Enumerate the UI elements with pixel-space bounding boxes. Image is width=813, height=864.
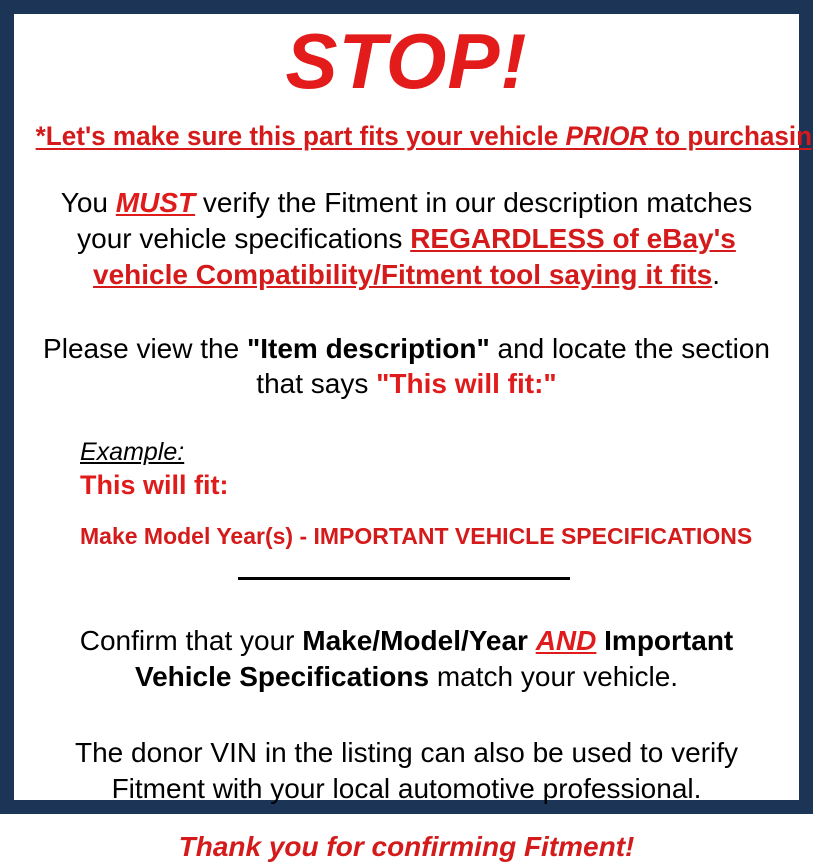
confirm-space2 [596, 625, 604, 656]
fitment-notice-card: STOP! *Let's make sure this part fits yo… [0, 0, 813, 814]
make-model-year-label: Make/Model/Year [302, 625, 528, 656]
confirm-seg2: match your vehicle. [429, 661, 678, 692]
tagline-prefix: *Let's make sure this part fits your veh… [36, 121, 566, 151]
thank-you-message: Thank you for confirming Fitment! [30, 830, 783, 864]
tagline-suffix: to purchasing* [648, 121, 813, 151]
confirm-seg1: Confirm that your [80, 625, 303, 656]
notice-content: STOP! *Let's make sure this part fits yo… [14, 14, 799, 800]
confirm-paragraph: Confirm that your Make/Model/Year AND Im… [30, 623, 783, 695]
and-emphasis: AND [536, 625, 597, 656]
item-description-label: "Item description" [247, 333, 490, 364]
must-seg1: You [61, 187, 116, 218]
must-verify-paragraph: You MUST verify the Fitment in our descr… [30, 185, 783, 292]
please-seg1: Please view the [43, 333, 247, 364]
divider-wrapper [30, 577, 783, 587]
tagline-emphasis: PRIOR [566, 121, 649, 151]
example-block: Example: This will fit: Make Model Year(… [30, 438, 783, 551]
must-emphasis: MUST [116, 187, 195, 218]
item-description-paragraph: Please view the "Item description" and l… [30, 331, 783, 403]
example-fit-header: This will fit: [80, 469, 783, 501]
tagline: *Let's make sure this part fits your veh… [36, 122, 778, 151]
must-seg3: . [712, 259, 720, 290]
example-label: Example: [80, 438, 184, 467]
confirm-space1 [528, 625, 536, 656]
example-spec-line: Make Model Year(s) - IMPORTANT VEHICLE S… [80, 523, 783, 551]
page-title: STOP! [30, 22, 783, 100]
section-divider [238, 577, 570, 580]
donor-vin-paragraph: The donor VIN in the listing can also be… [30, 735, 783, 807]
this-will-fit-label: "This will fit:" [376, 368, 557, 399]
